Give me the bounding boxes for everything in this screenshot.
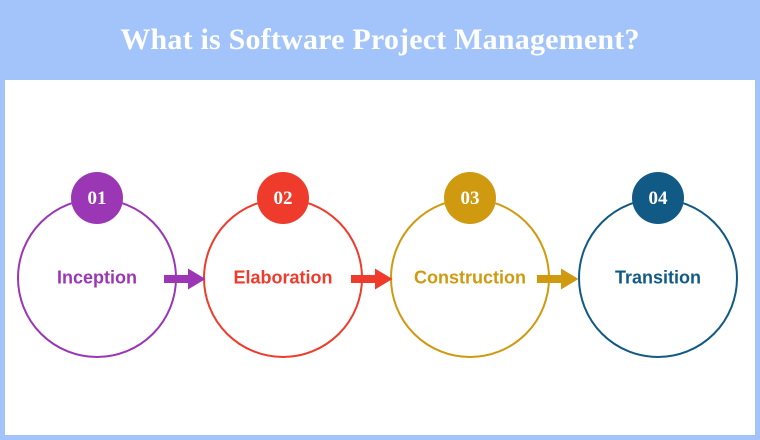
stage-number-badge: 01 [71,172,123,224]
arrow-right-icon [164,268,206,290]
stage-number-text: 01 [88,189,107,208]
stage-number-text: 03 [461,189,480,208]
arrow-inception-to-elaboration [164,268,206,290]
content-panel: 01Inception02Elaboration03Construction04… [5,80,755,435]
stage-transition[interactable]: 04Transition [578,198,738,358]
stage-number-badge: 04 [632,172,684,224]
stage-construction[interactable]: 03Construction [390,198,550,358]
page-title: What is Software Project Management? [120,23,639,57]
arrow-elaboration-to-construction [351,268,393,290]
arrow-construction-to-transition [537,268,579,290]
stage-number-badge: 02 [257,172,309,224]
header-band: What is Software Project Management? [0,0,760,80]
stage-label: Inception [7,268,187,289]
infographic-root: What is Software Project Management? 01I… [0,0,760,440]
stage-number-text: 04 [649,189,668,208]
stage-inception[interactable]: 01Inception [17,198,177,358]
stage-number-text: 02 [274,189,293,208]
stage-label: Construction [380,268,560,289]
arrow-right-icon [537,268,579,290]
stage-label: Elaboration [193,268,373,289]
arrow-right-icon [351,268,393,290]
stage-elaboration[interactable]: 02Elaboration [203,198,363,358]
stage-label: Transition [568,268,748,289]
stage-number-badge: 03 [444,172,496,224]
